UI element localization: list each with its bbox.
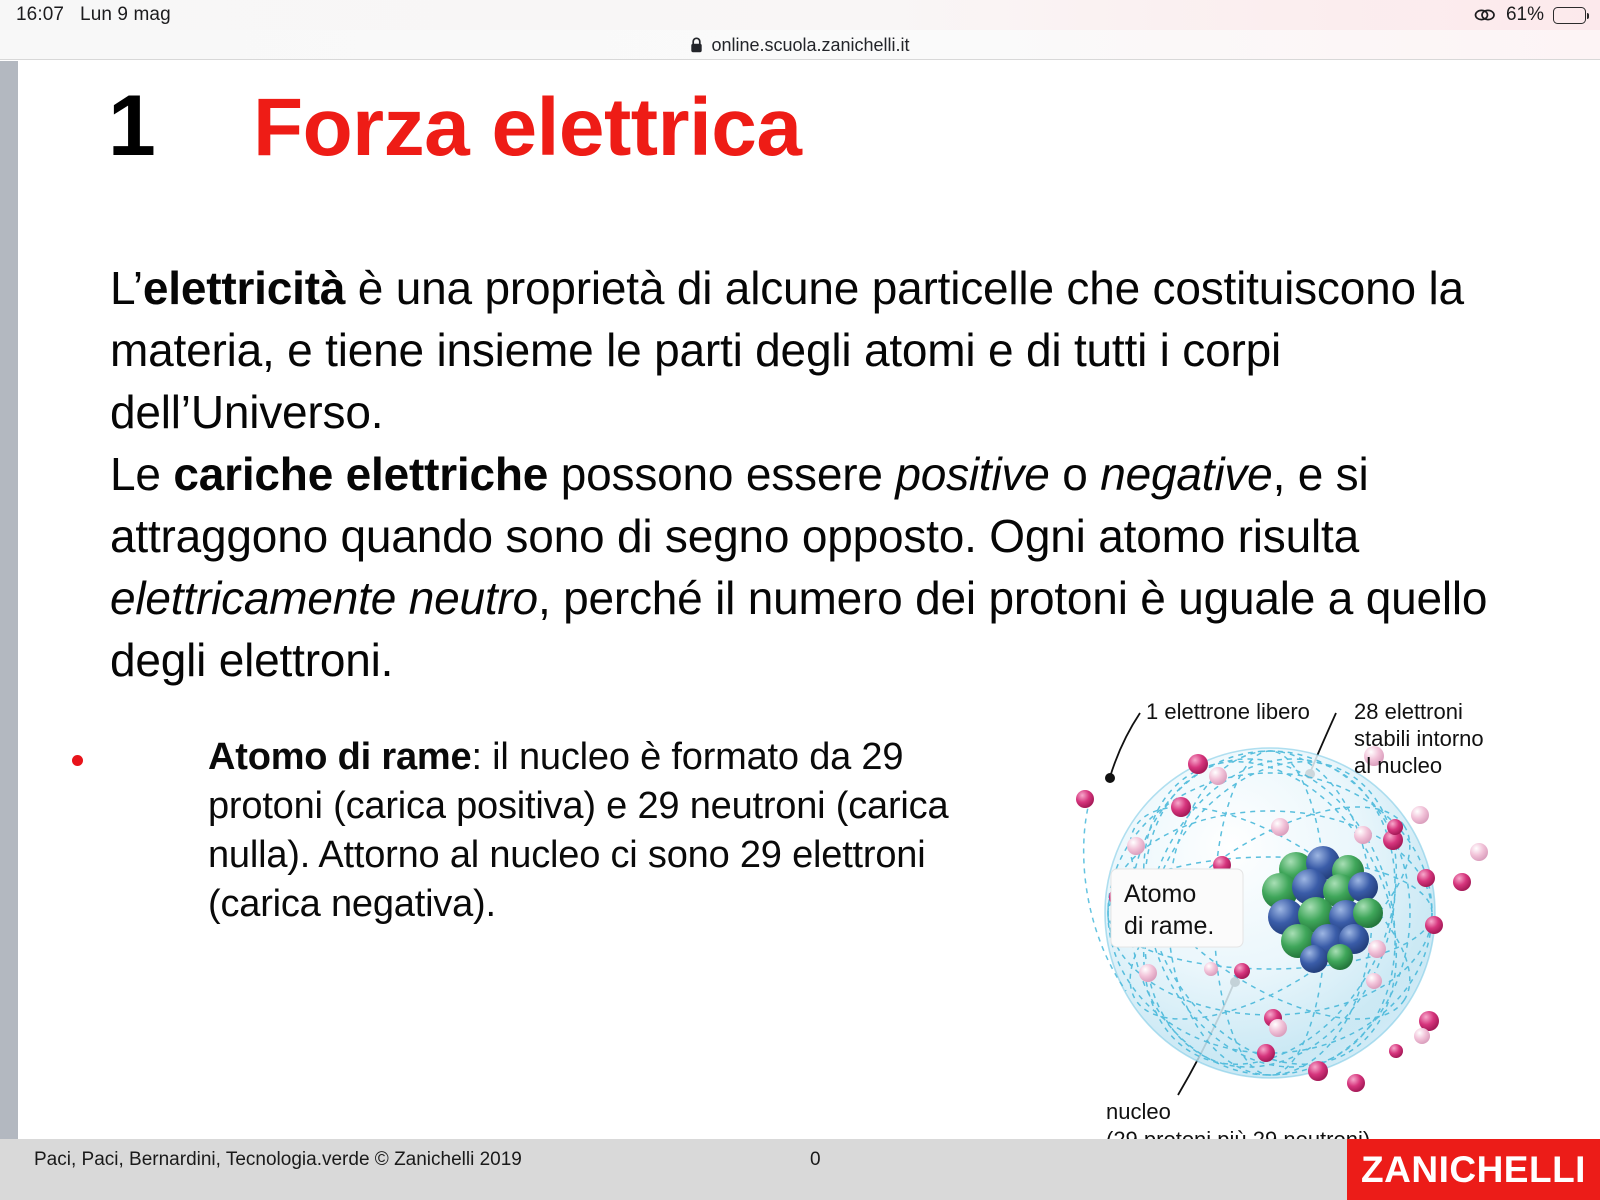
- body-paragraph: L’elettricità è una proprietà di alcune …: [110, 257, 1490, 691]
- callout-atomo-di-rame: Atomo di rame.: [1111, 869, 1243, 947]
- label-stable-electrons-line2: stabili intorno: [1354, 726, 1484, 751]
- page-title: 1 Forza elettrica: [108, 83, 801, 169]
- page-viewport: 1 Forza elettrica L’elettricità è una pr…: [0, 61, 1600, 1139]
- label-stable-electrons-line1: 28 elettroni: [1354, 699, 1463, 724]
- title-number: 1: [108, 83, 253, 169]
- url-text: online.scuola.zanichelli.it: [711, 35, 909, 56]
- para-italic-negative: negative: [1100, 448, 1272, 500]
- para-line2-b: possono essere: [548, 448, 895, 500]
- bullet-marker-icon: [60, 733, 108, 929]
- zanichelli-logo: ZANICHELLI: [1347, 1139, 1600, 1200]
- para-line1-a: L’: [110, 262, 143, 314]
- footer-credit: Paci, Paci, Bernardini, Tecnologia.verde…: [34, 1149, 522, 1171]
- slide-content: 1 Forza elettrica L’elettricità è una pr…: [18, 61, 1600, 1139]
- slide-footer: Paci, Paci, Bernardini, Tecnologia.verde…: [0, 1139, 1600, 1200]
- bullet-text: Atomo di rame: il nucleo è formato da 29…: [208, 733, 990, 929]
- battery-percent-label: 61%: [1506, 4, 1544, 26]
- bullet-list-item: Atomo di rame: il nucleo è formato da 29…: [60, 733, 990, 929]
- bullet-lead-bold: Atomo di rame: [208, 736, 471, 778]
- title-heading: Forza elettrica: [253, 87, 801, 169]
- para-line2-c: o: [1050, 448, 1101, 500]
- clock-time: 16:07: [16, 4, 64, 26]
- left-gutter: [0, 61, 18, 1139]
- label-nucleus-line2: (29 protoni più 29 neutroni): [1106, 1127, 1370, 1139]
- lock-icon: [690, 37, 703, 53]
- para-line2-bold: cariche elettriche: [173, 448, 548, 500]
- browser-url-bar[interactable]: online.scuola.zanichelli.it: [0, 30, 1600, 60]
- footer-page-number: 0: [810, 1149, 821, 1171]
- status-bar-left: 16:07 Lun 9 mag: [16, 4, 171, 26]
- para-italic-neutro: elettricamente neutro: [110, 572, 538, 624]
- clock-date: Lun 9 mag: [80, 4, 171, 26]
- chain-link-icon: [1473, 7, 1497, 23]
- screen-root: 16:07 Lun 9 mag 61% o: [0, 0, 1600, 1200]
- label-stable-electrons-line3: al nucleo: [1354, 753, 1442, 778]
- para-italic-positive: positive: [895, 448, 1049, 500]
- status-bar-right: 61%: [1473, 0, 1586, 30]
- zanichelli-logo-text: ZANICHELLI: [1361, 1149, 1586, 1191]
- status-bar: 16:07 Lun 9 mag 61%: [0, 0, 1600, 30]
- label-nucleus-line1: nucleo: [1106, 1099, 1171, 1124]
- atom-figure: Atomo di rame. 1 elettrone libero 28 ele…: [1018, 691, 1538, 1139]
- callout-line1: Atomo: [1124, 880, 1196, 908]
- para-line2-a: Le: [110, 448, 173, 500]
- label-free-electron: 1 elettrone libero: [1146, 699, 1310, 724]
- callout-line2: di rame.: [1124, 912, 1214, 940]
- para-line1-bold: elettricità: [143, 262, 345, 314]
- battery-icon: [1553, 7, 1586, 24]
